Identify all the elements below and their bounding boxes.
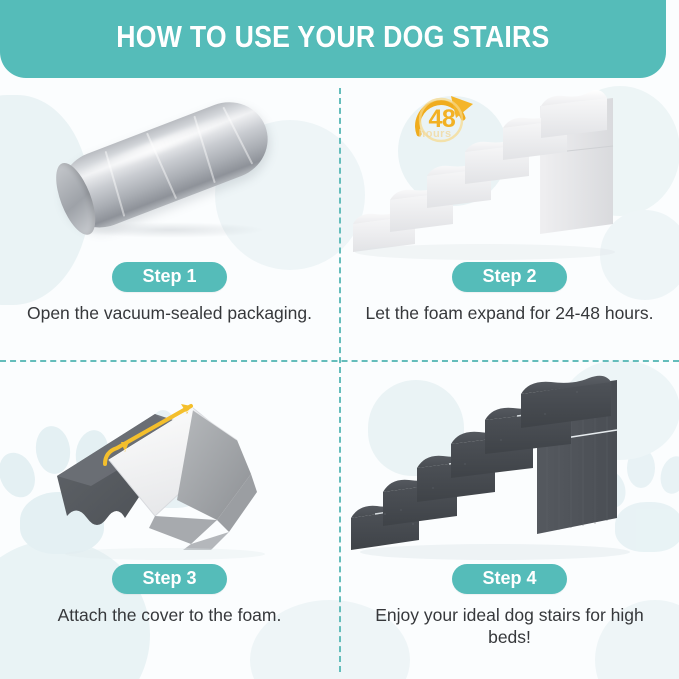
step-1-caption: Open the vacuum-sealed packaging. — [27, 302, 312, 324]
step-4-badge: Step 4 — [452, 564, 566, 594]
step-card-4: Step 4 Enjoy your ideal dog stairs for h… — [340, 362, 679, 662]
page-title: HOW TO USE YOUR DOG STAIRS — [116, 19, 549, 55]
vacuum-sealed-roll-icon — [40, 65, 293, 267]
step-card-1: Step 1 Open the vacuum-sealed packaging. — [0, 80, 339, 360]
finished-gray-dog-stairs-icon — [345, 368, 675, 564]
step-1-artwork — [5, 84, 335, 262]
step-2-artwork: 48 hours — [345, 84, 675, 262]
cover-over-foam-icon — [5, 368, 335, 564]
step-4-artwork — [345, 368, 675, 564]
step-4-caption: Enjoy your ideal dog stairs for high bed… — [360, 604, 660, 649]
step-2-badge: Step 2 — [452, 262, 566, 292]
step-3-badge: Step 3 — [112, 564, 226, 594]
step-3-artwork — [5, 368, 335, 564]
header-banner: HOW TO USE YOUR DOG STAIRS — [0, 0, 666, 78]
infographic-page: HOW TO USE YOUR DOG STAIRS Step 1 — [0, 0, 679, 679]
step-card-2: 48 hours — [340, 80, 679, 360]
step-3-caption: Attach the cover to the foam. — [58, 604, 282, 626]
step-card-3: Step 3 Attach the cover to the foam. — [0, 362, 339, 662]
step-1-badge: Step 1 — [112, 262, 226, 292]
white-foam-stairs-icon — [345, 84, 675, 262]
step-2-caption: Let the foam expand for 24-48 hours. — [366, 302, 654, 324]
horizontal-divider — [0, 360, 679, 362]
vertical-divider — [339, 88, 341, 672]
